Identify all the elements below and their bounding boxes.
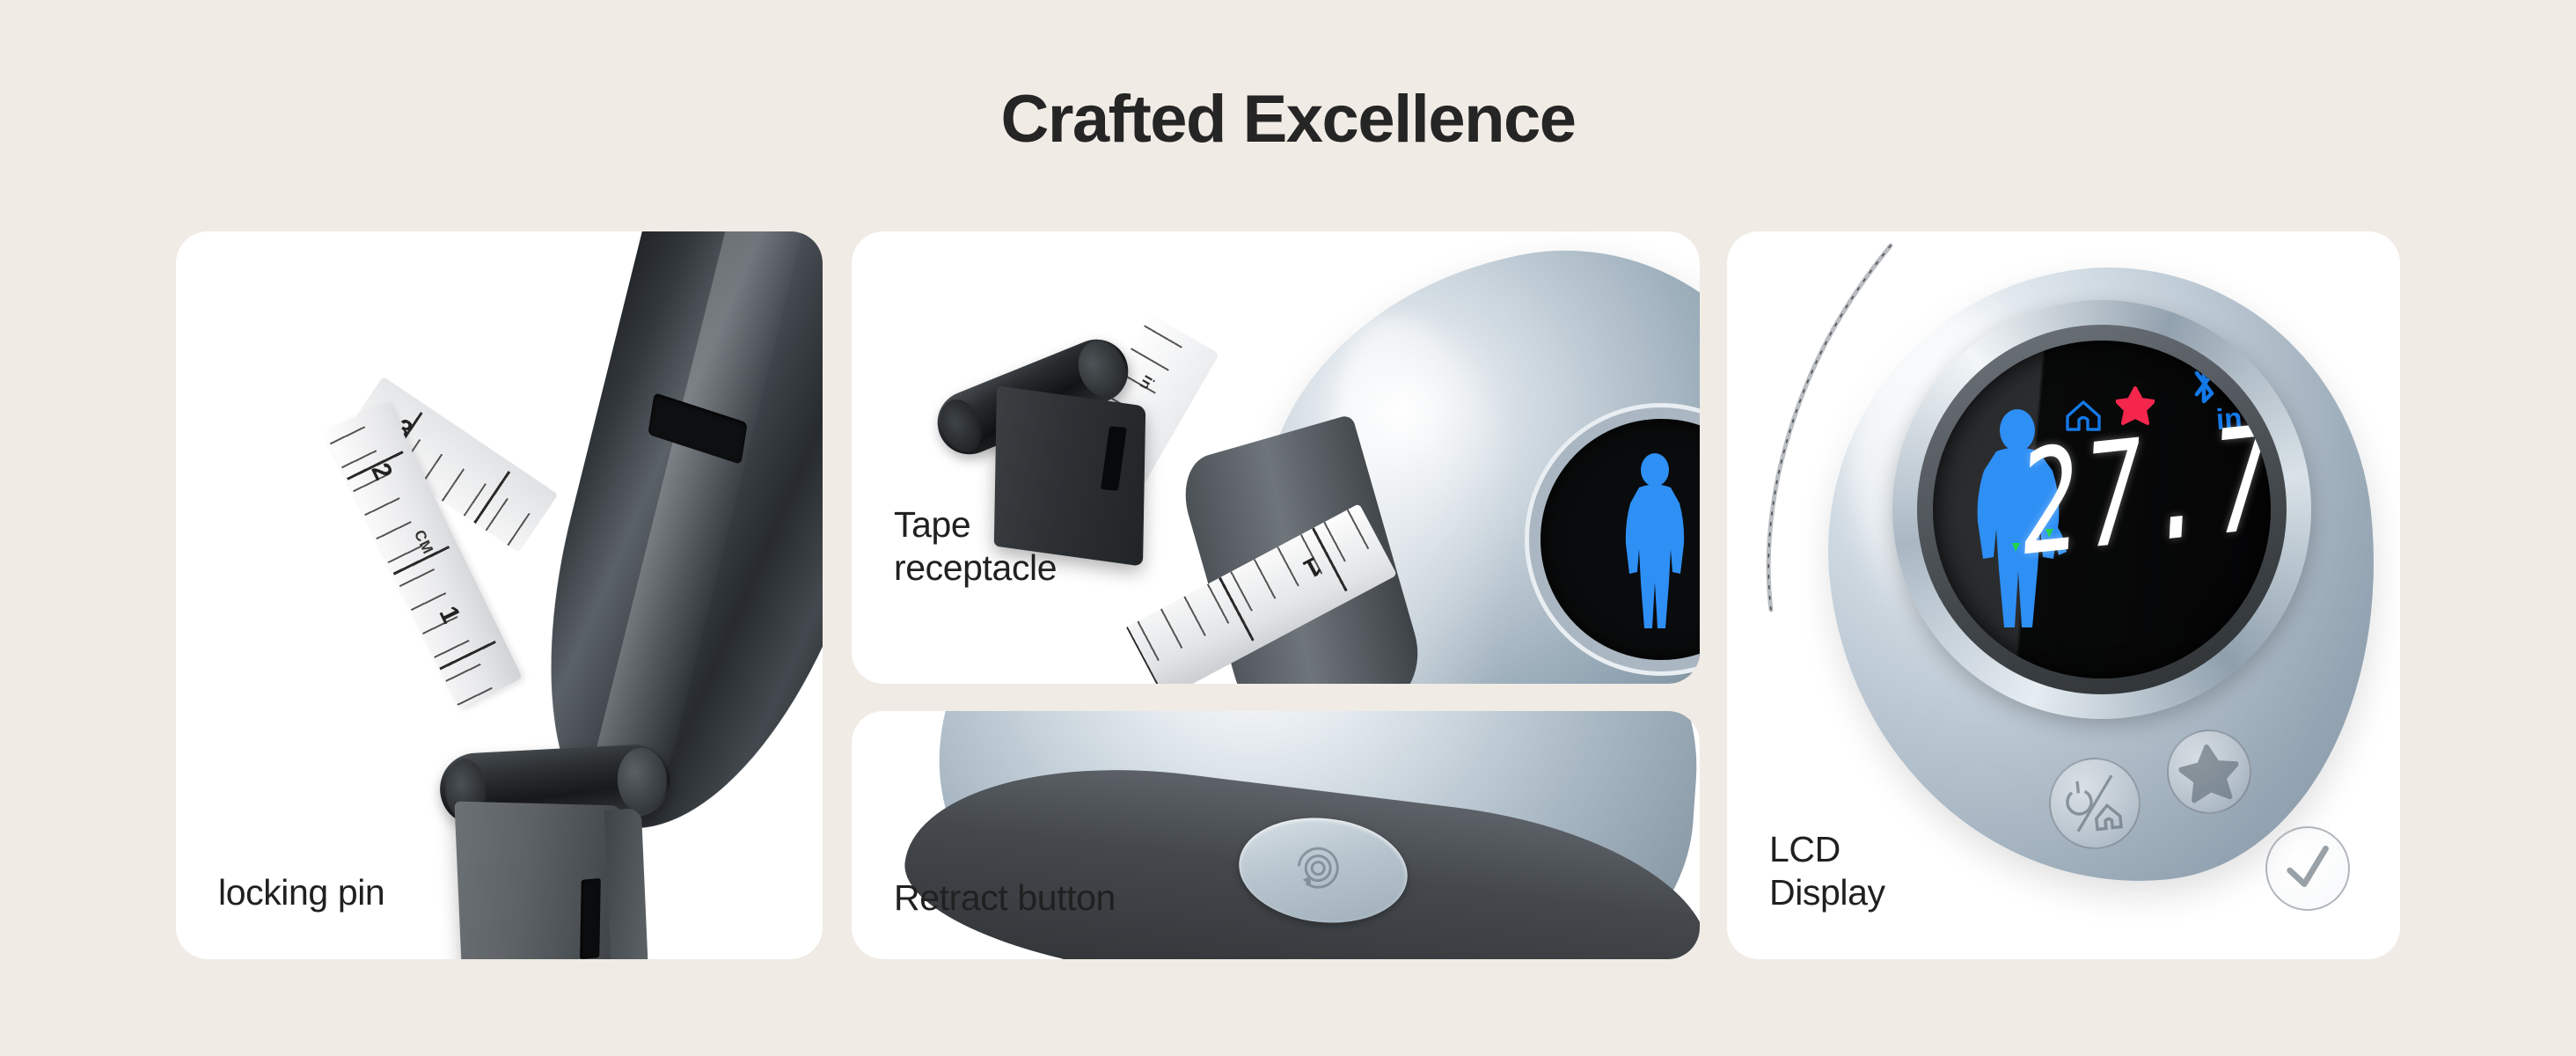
check-button[interactable] (2261, 822, 2354, 915)
locking-pin-illustration: 3 2 CM 1 (176, 231, 823, 959)
card-locking-pin[interactable]: 3 2 CM 1 locking pin (176, 231, 823, 959)
retract-spiral-icon (1284, 836, 1360, 905)
star-icon (2177, 739, 2243, 805)
card-label-tape-receptacle: Tape receptacle (894, 503, 1057, 589)
card-tape-receptacle[interactable]: in 1 Tape receptacle (852, 231, 1700, 684)
lcd-screen[interactable]: in 27.77 (1933, 341, 2271, 678)
card-label-retract-button: Retract button (894, 876, 1116, 919)
retract-button-illustration (852, 711, 1700, 959)
bluetooth-icon (2186, 362, 2221, 406)
lcd-bezel: in 27.77 (1892, 300, 2311, 719)
check-icon (2275, 836, 2341, 902)
lcd-bezel-inner: in 27.77 (1917, 325, 2287, 694)
locking-pin-body (454, 802, 631, 959)
page-title: Crafted Excellence (0, 81, 2576, 158)
power-home-split-icon (2059, 767, 2130, 839)
card-label-locking-pin: locking pin (218, 871, 384, 913)
locking-pin-slot (580, 878, 601, 959)
card-retract-button[interactable]: Retract button (852, 711, 1700, 959)
lcd-measurement-value: 27.77 (2016, 388, 2271, 590)
card-lcd-display[interactable]: in 27.77 (1727, 231, 2400, 959)
tape-receptacle-illustration: in 1 (852, 231, 1700, 684)
card-label-lcd-display: LCD Display (1769, 828, 1885, 913)
body-figure-icon (1613, 452, 1697, 637)
